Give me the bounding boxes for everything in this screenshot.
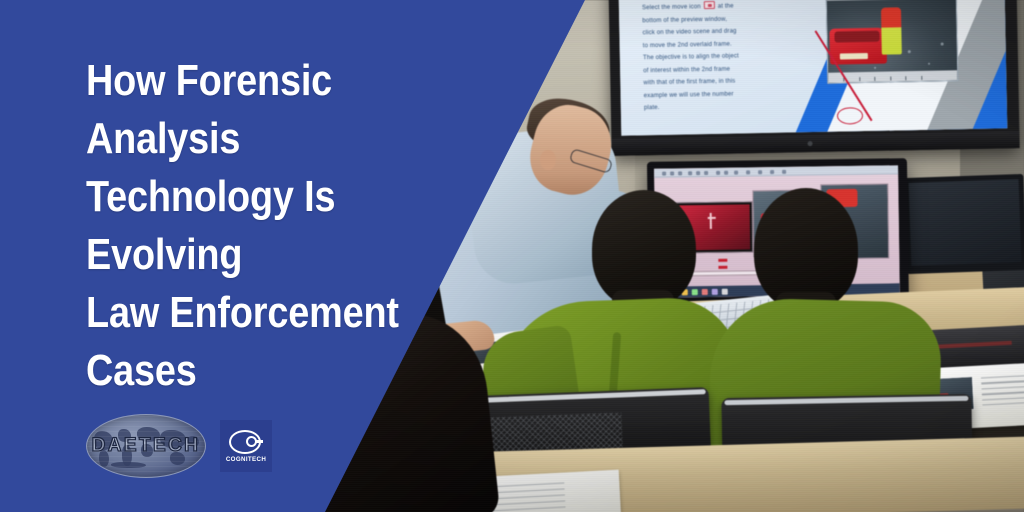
daetech-logo[interactable]: DAETECH (86, 414, 206, 478)
cognitech-wordmark: COGNITECH (226, 456, 266, 463)
slide-video-thumbnail (825, 0, 958, 84)
hi-vis-person (881, 7, 903, 54)
cognitech-logo[interactable]: COGNITECH (220, 420, 272, 472)
slide-line-10: plate. (644, 100, 833, 115)
number-plate (840, 53, 867, 59)
logo-row: DAETECH COGNITECH (86, 414, 272, 478)
slide-instruction-text: Select the move iconat the bottom of the… (642, 0, 833, 116)
instructor-ear (540, 150, 556, 170)
daetech-wordmark: DAETECH (87, 435, 205, 457)
cognitech-eye-icon (229, 430, 263, 454)
secondary-monitor (903, 174, 1024, 274)
red-car (829, 27, 887, 64)
move-icon (704, 1, 715, 9)
slide-line-2: at the (718, 4, 734, 10)
page-title: How Forensic Analysis Technology Is Evol… (86, 52, 456, 400)
binder-text-lines (981, 375, 1024, 418)
presentation-screen: Select the move iconat the bottom of the… (619, 0, 1008, 136)
blog-banner: Select the move iconat the bottom of the… (0, 0, 1024, 512)
slide-line-1: Select the move icon (642, 4, 701, 11)
headline-block: How Forensic Analysis Technology Is Evol… (86, 52, 516, 400)
presentation-display: Select the move iconat the bottom of the… (608, 0, 1019, 156)
